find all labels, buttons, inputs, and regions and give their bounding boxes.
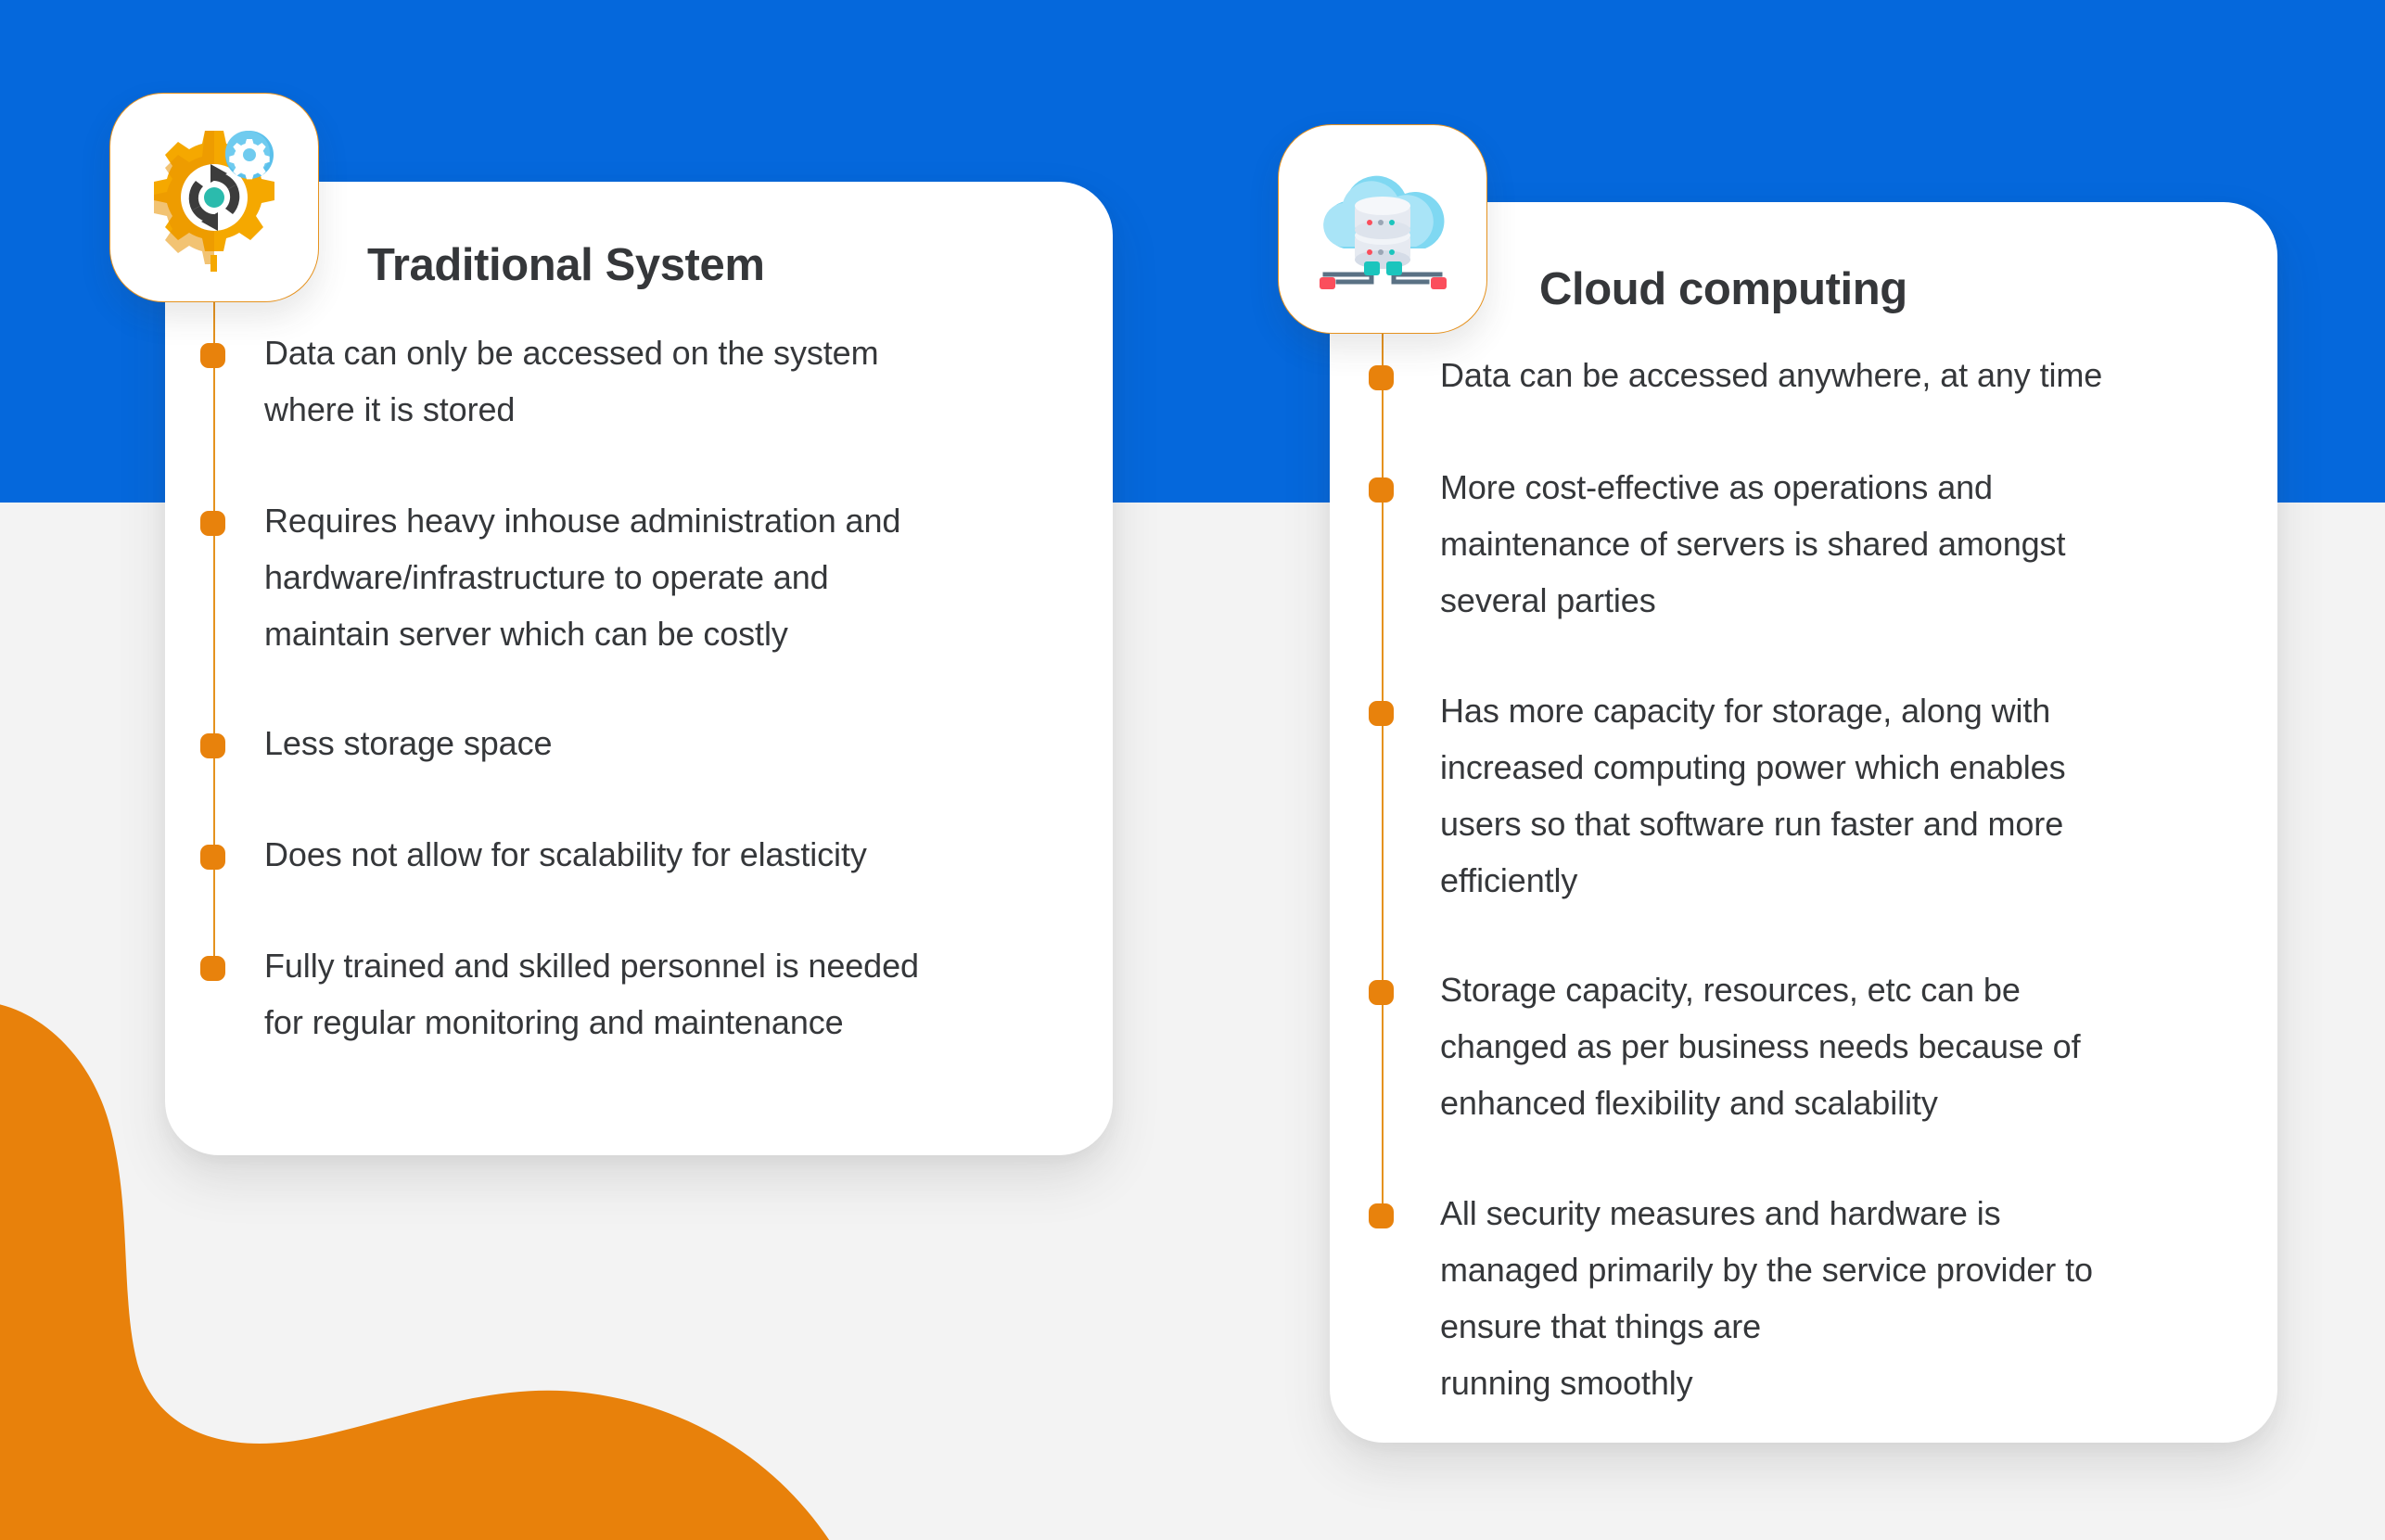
bullet-line: running smoothly <box>1440 1355 2275 1411</box>
bullet-dot-traditional-5 <box>200 956 225 981</box>
bullet-line: Less storage space <box>264 715 1099 771</box>
bullet-line: More cost-effective as operations and <box>1440 459 2275 515</box>
cloud-computing-icon-tile <box>1278 124 1487 334</box>
bullet-line: users so that software run faster and mo… <box>1440 795 2275 852</box>
traditional-system-icon-tile <box>109 93 319 302</box>
bullet-dot-cloud-1 <box>1369 365 1394 390</box>
bullet-line: All security measures and hardware is <box>1440 1185 2275 1241</box>
bullet-text-traditional-4: Does not allow for scalability for elast… <box>264 826 1099 883</box>
bullet-text-cloud-3: Has more capacity for storage, along wit… <box>1440 682 2275 909</box>
bullet-line: hardware/infrastructure to operate and <box>264 549 1099 605</box>
bullet-line: maintenance of servers is shared amongst <box>1440 515 2275 572</box>
bullet-dot-traditional-3 <box>200 733 225 758</box>
bullet-line: Data can be accessed anywhere, at any ti… <box>1440 347 2275 403</box>
bullet-text-cloud-2: More cost-effective as operations and ma… <box>1440 459 2275 629</box>
bullet-line: changed as per business needs because of <box>1440 1018 2275 1075</box>
bullet-line: managed primarily by the service provide… <box>1440 1241 2275 1298</box>
bullet-line: enhanced flexibility and scalability <box>1440 1075 2275 1131</box>
bullet-line: Requires heavy inhouse administration an… <box>264 492 1099 549</box>
bullet-dot-cloud-5 <box>1369 1203 1394 1228</box>
bullet-line: Has more capacity for storage, along wit… <box>1440 682 2275 739</box>
bullet-text-traditional-2: Requires heavy inhouse administration an… <box>264 492 1099 662</box>
bullet-text-cloud-5: All security measures and hardware is ma… <box>1440 1185 2275 1411</box>
bullet-text-traditional-1: Data can only be accessed on the system … <box>264 325 1099 438</box>
bullet-text-traditional-5: Fully trained and skilled personnel is n… <box>264 937 1099 1050</box>
bullet-dot-traditional-4 <box>200 845 225 870</box>
bullet-line: several parties <box>1440 572 2275 629</box>
bullet-line: Does not allow for scalability for elast… <box>264 826 1099 883</box>
bullet-dot-cloud-4 <box>1369 980 1394 1005</box>
bullet-dot-cloud-2 <box>1369 477 1394 503</box>
cloud-computing-title: Cloud computing <box>1539 263 1907 315</box>
cloud-server-icon <box>1307 159 1459 299</box>
bullet-text-cloud-4: Storage capacity, resources, etc can be … <box>1440 961 2275 1131</box>
bullet-dot-traditional-1 <box>200 343 225 368</box>
bullet-line: where it is stored <box>264 381 1099 438</box>
bullet-line: Storage capacity, resources, etc can be <box>1440 961 2275 1018</box>
infographic-canvas: Traditional System Data can only be acce… <box>0 0 2385 1540</box>
bullet-dot-cloud-3 <box>1369 701 1394 726</box>
bullet-line: maintain server which can be costly <box>264 605 1099 662</box>
bullet-line: for regular monitoring and maintenance <box>264 994 1099 1050</box>
traditional-system-title: Traditional System <box>367 239 765 291</box>
bullet-text-traditional-3: Less storage space <box>264 715 1099 771</box>
bullet-text-cloud-1: Data can be accessed anywhere, at any ti… <box>1440 347 2275 403</box>
bullet-dot-traditional-2 <box>200 511 225 536</box>
bullet-line: efficiently <box>1440 852 2275 909</box>
bullet-line: Data can only be accessed on the system <box>264 325 1099 381</box>
bullet-line: Fully trained and skilled personnel is n… <box>264 937 1099 994</box>
gear-sync-icon <box>140 123 288 272</box>
bullet-line: ensure that things are <box>1440 1298 2275 1355</box>
bullet-line: increased computing power which enables <box>1440 739 2275 795</box>
